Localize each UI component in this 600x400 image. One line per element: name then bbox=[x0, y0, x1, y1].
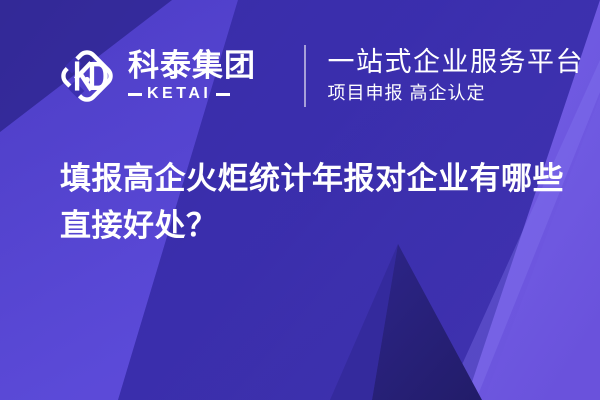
brand-text-block: 科泰集团 KETAI bbox=[128, 45, 280, 107]
promo-banner: 科泰集团 KETAI 一站式企业服务平台 项目申报 高企认定 填报高企火炬统计年… bbox=[0, 0, 600, 400]
headline-title: 填报高企火炬统计年报对企业有哪些直接好处？ bbox=[60, 155, 568, 249]
banner-header: 科泰集团 KETAI 一站式企业服务平台 项目申报 高企认定 bbox=[56, 38, 584, 114]
brand-dash-left-icon bbox=[128, 93, 142, 96]
brand-dash-right-icon bbox=[216, 93, 230, 96]
header-divider bbox=[304, 45, 306, 107]
brand-name-en: KETAI bbox=[147, 86, 211, 102]
brand-name-cn: 科泰集团 bbox=[128, 50, 280, 81]
tagline-sub: 项目申报 高企认定 bbox=[328, 83, 585, 105]
ketai-logo-icon bbox=[56, 45, 118, 107]
logo-d-letter bbox=[92, 64, 106, 88]
tagline-block: 一站式企业服务平台 项目申报 高企认定 bbox=[328, 43, 585, 109]
brand-name-en-row: KETAI bbox=[128, 86, 280, 102]
tagline-main: 一站式企业服务平台 bbox=[328, 47, 585, 77]
